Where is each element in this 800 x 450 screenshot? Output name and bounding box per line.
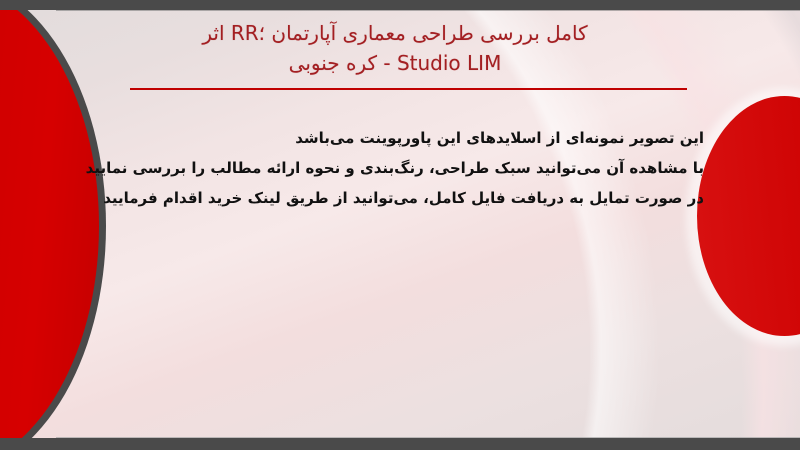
panel-top-hairline	[56, 10, 800, 11]
slide-title-line-1: کامل بررسی طراحی معماری آپارتمان ؛RR اثر	[100, 18, 690, 48]
presentation-slide: کامل بررسی طراحی معماری آپارتمان ؛RR اثر…	[0, 0, 800, 450]
frame-band-bottom	[0, 438, 800, 450]
slide-body-text: این تصویر نمونه‌ای از اسلایدهای این پاور…	[84, 123, 704, 213]
body-line-1: این تصویر نمونه‌ای از اسلایدهای این پاور…	[84, 123, 704, 153]
slide-title: کامل بررسی طراحی معماری آپارتمان ؛RR اثر…	[100, 18, 690, 78]
body-line-2: با مشاهده آن می‌توانید سبک طراحی، رنگ‌بن…	[84, 153, 704, 183]
slide-title-line-2: Studio LIM - کره جنوبی	[100, 48, 690, 78]
body-line-3: در صورت تمایل به دریافت فایل کامل، می‌تو…	[84, 183, 704, 213]
title-underline-rule	[130, 88, 687, 90]
left-red-ellipse-decoration	[0, 10, 99, 438]
slide-content-panel: کامل بررسی طراحی معماری آپارتمان ؛RR اثر…	[0, 10, 800, 438]
frame-band-top	[0, 0, 800, 10]
